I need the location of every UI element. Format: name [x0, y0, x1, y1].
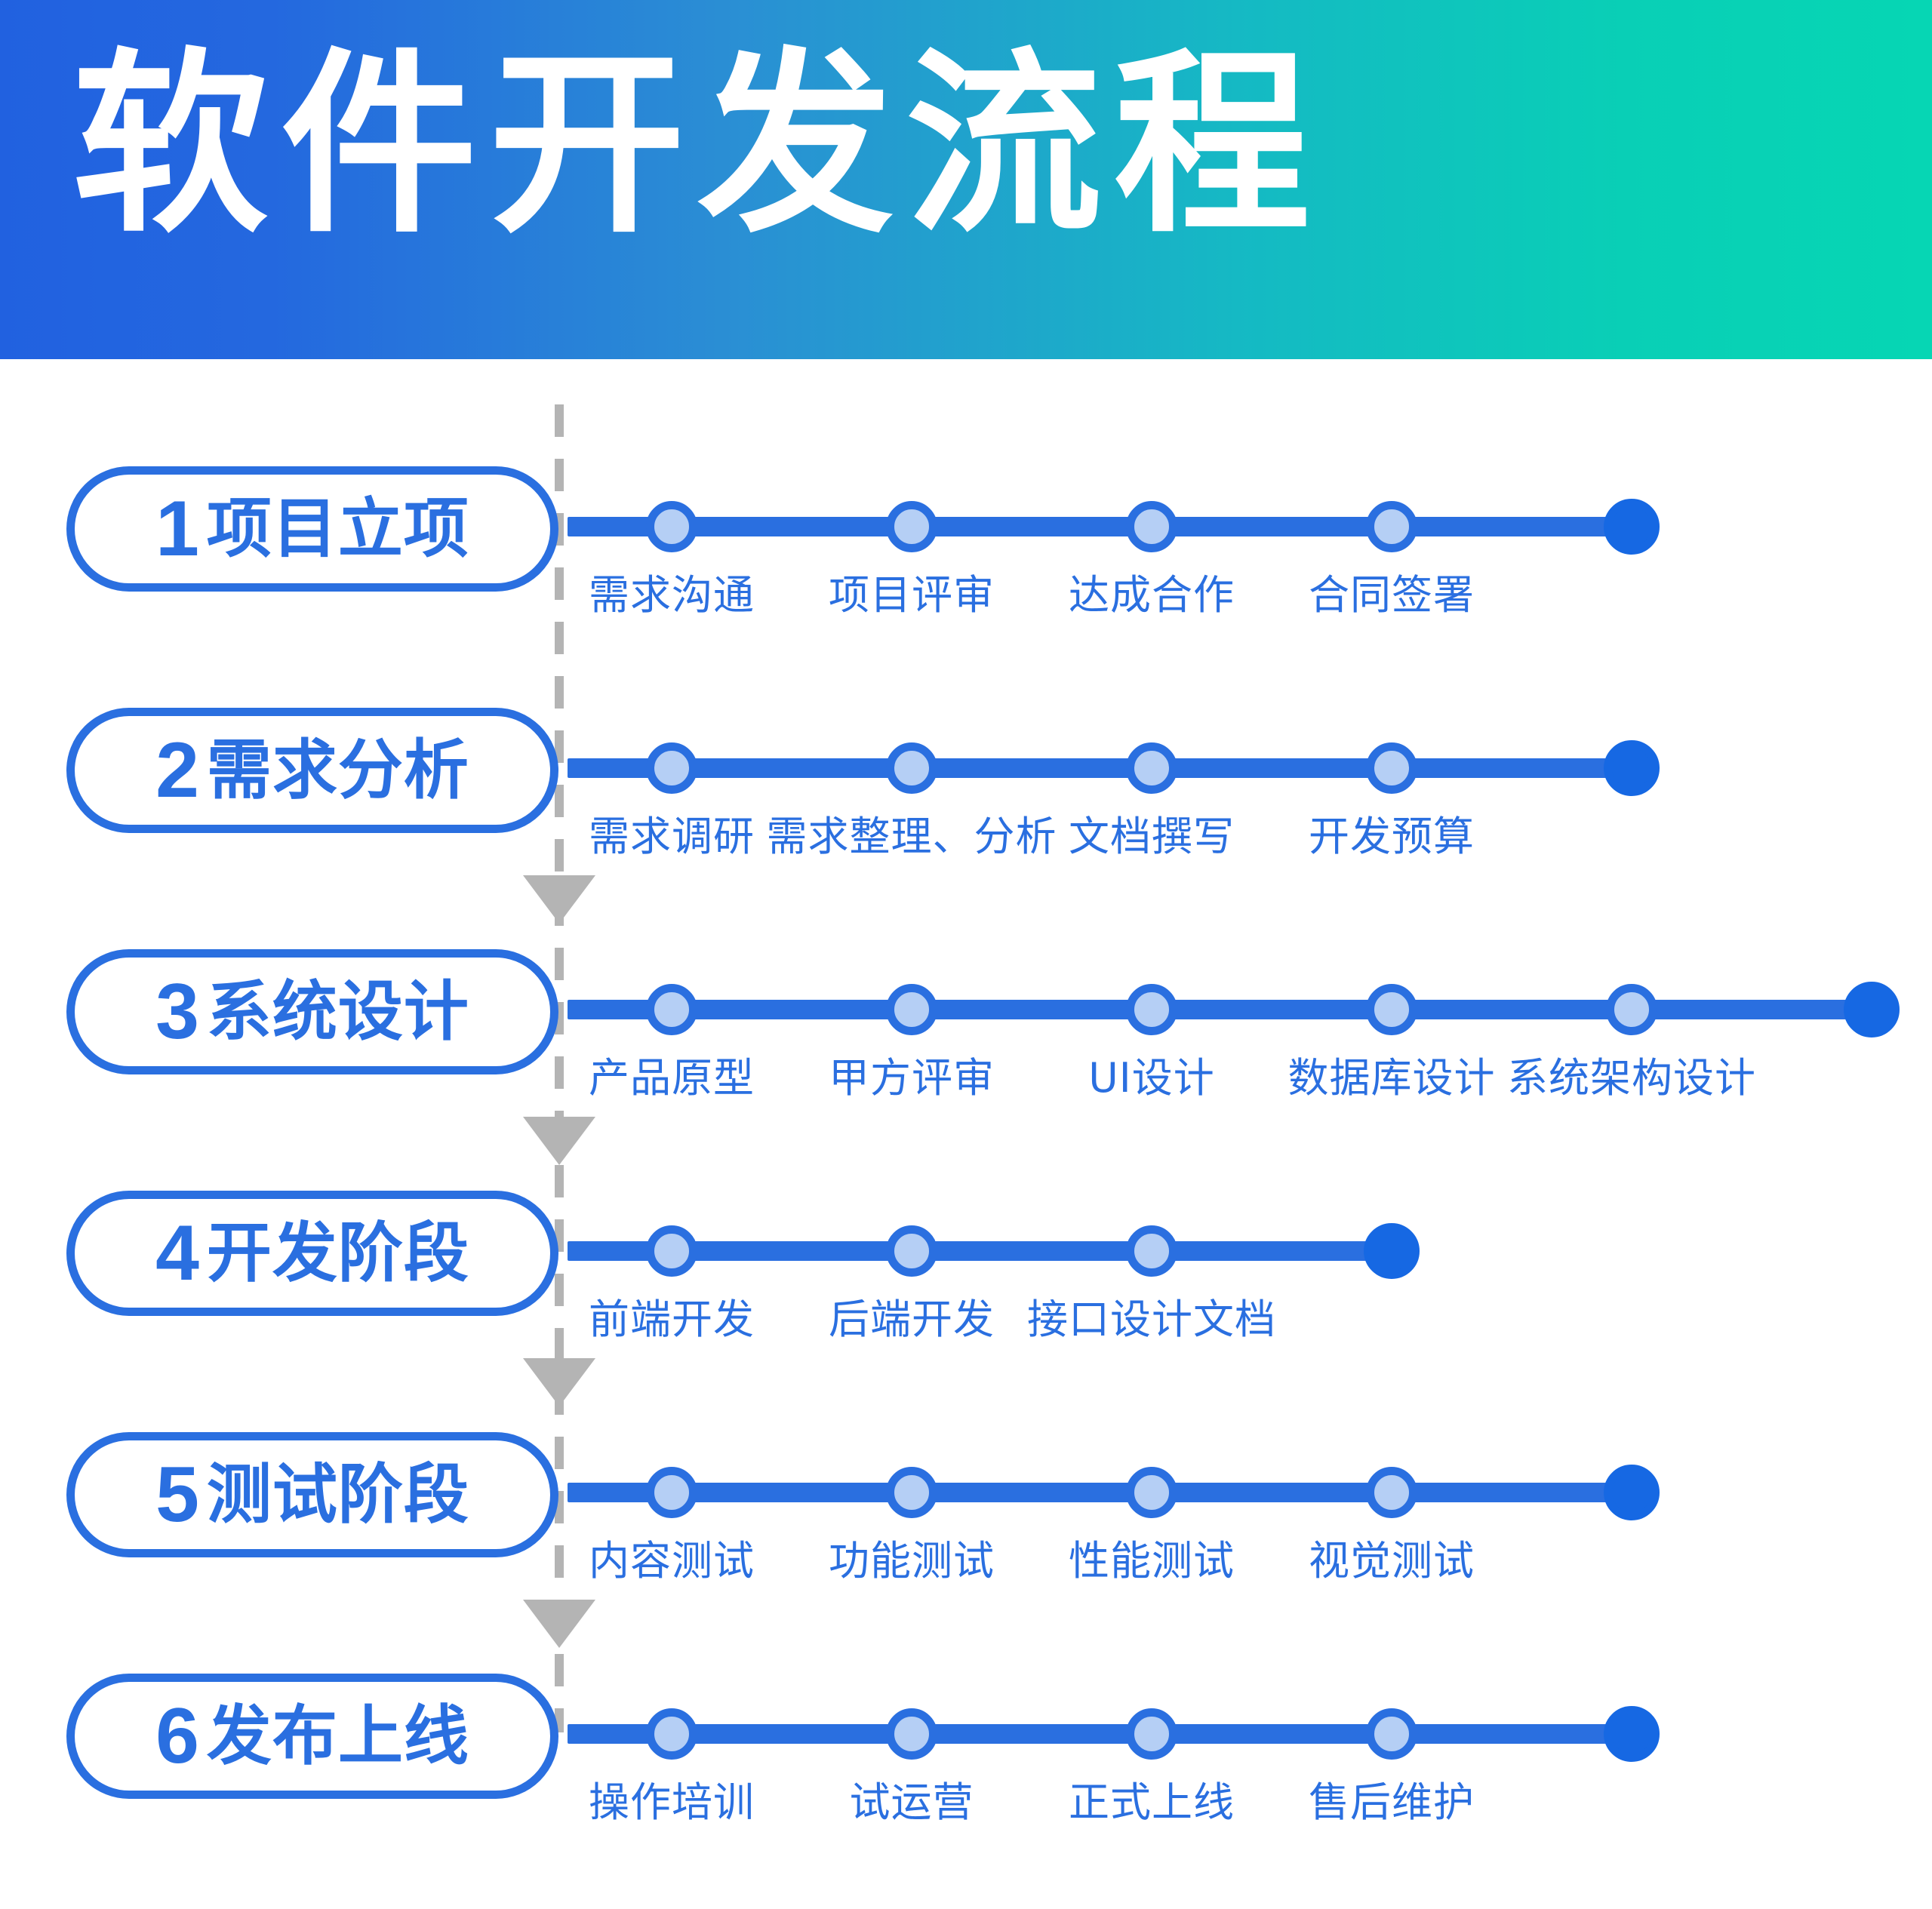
timeline-node-label: 开发预算	[1309, 803, 1475, 862]
timeline-node-label: 后端开发	[829, 1286, 995, 1345]
timeline-node-label: 需求沟通	[589, 561, 755, 621]
page-title: 软件开发流程	[72, 33, 1322, 259]
stage-number: 3	[155, 973, 199, 1051]
stage-pill-3[interactable]: 3系统设计	[66, 949, 558, 1074]
timeline-node-label: 项目评审	[829, 561, 995, 621]
timeline-node-label: 数据库设计	[1288, 1044, 1496, 1104]
timeline-node-label: 系统架构设计	[1507, 1044, 1756, 1104]
timeline-node[interactable]	[1126, 984, 1177, 1035]
timeline-node[interactable]	[646, 984, 697, 1035]
timeline-node-label: 正式上线	[1069, 1769, 1235, 1828]
timeline-track	[568, 517, 1632, 536]
timeline-node-label: 视觉测试	[1309, 1527, 1475, 1587]
timeline-node[interactable]	[1366, 742, 1417, 794]
stage-number: 2	[155, 731, 199, 810]
timeline-node[interactable]	[646, 742, 697, 794]
stage-timeline: 产品原型甲方评审UI设计数据库设计系统架构设计	[568, 933, 1917, 1106]
timeline-node[interactable]	[1126, 1708, 1177, 1760]
timeline-node[interactable]	[1366, 984, 1417, 1035]
stage-number: 4	[155, 1214, 199, 1293]
stage-timeline: 需求沟通项目评审达成合作合同签署	[568, 450, 1677, 623]
timeline-end-node[interactable]	[1364, 1223, 1420, 1279]
timeline-node[interactable]	[1606, 984, 1657, 1035]
timeline-node-label: 甲方评审	[829, 1044, 995, 1104]
timeline-node[interactable]	[646, 1225, 697, 1277]
timeline-node[interactable]	[1126, 1225, 1177, 1277]
timeline-track	[568, 1000, 1872, 1019]
stage-row: 6发布上线操作培训试运营正式上线售后维护	[0, 1657, 1932, 1898]
timeline-node[interactable]	[1126, 742, 1177, 794]
stage-label: 测试阶段	[207, 1462, 469, 1527]
stage-label: 系统设计	[207, 979, 469, 1044]
timeline-end-node[interactable]	[1604, 1465, 1660, 1520]
timeline-node-label: 达成合作	[1069, 561, 1235, 621]
stage-number: 1	[155, 490, 199, 568]
timeline-node[interactable]	[646, 1467, 697, 1518]
timeline-node[interactable]	[886, 742, 937, 794]
timeline-node[interactable]	[886, 501, 937, 552]
stage-pill-6[interactable]: 6发布上线	[66, 1674, 558, 1799]
timeline-node[interactable]	[886, 1708, 937, 1760]
timeline-end-node[interactable]	[1604, 1706, 1660, 1762]
timeline-node-label: 需求整理、分析	[767, 803, 1057, 862]
stage-timeline: 前端开发后端开发接口设计文档	[568, 1174, 1437, 1348]
timeline-track	[568, 1483, 1632, 1502]
timeline-end-node[interactable]	[1604, 740, 1660, 796]
stage-label: 开发阶段	[207, 1221, 469, 1286]
timeline-node[interactable]	[1126, 1467, 1177, 1518]
timeline-node-label: 内容测试	[589, 1527, 755, 1587]
timeline-node[interactable]	[646, 1708, 697, 1760]
flow-diagram: 1项目立项需求沟通项目评审达成合作合同签署2需求分析需求调研需求整理、分析文档撰…	[0, 359, 1932, 1909]
stage-row: 4开发阶段前端开发后端开发接口设计文档	[0, 1174, 1932, 1416]
stage-number: 6	[155, 1697, 199, 1775]
stage-pill-5[interactable]: 5测试阶段	[66, 1432, 558, 1557]
stage-timeline: 内容测试功能测试性能测试视觉测试	[568, 1416, 1677, 1589]
stage-number: 5	[155, 1456, 199, 1534]
timeline-node-label: 性能测试	[1069, 1527, 1235, 1587]
timeline-node[interactable]	[1366, 1708, 1417, 1760]
stage-label: 需求分析	[207, 738, 469, 803]
timeline-node-label: 试运营	[850, 1769, 974, 1828]
timeline-node-label: 接口设计文档	[1027, 1286, 1276, 1345]
stage-row: 3系统设计产品原型甲方评审UI设计数据库设计系统架构设计	[0, 933, 1932, 1174]
timeline-node[interactable]	[886, 984, 937, 1035]
timeline-end-node[interactable]	[1844, 982, 1900, 1037]
timeline-track	[568, 1724, 1632, 1744]
timeline-node-label: 功能测试	[829, 1527, 995, 1587]
stage-pill-2[interactable]: 2需求分析	[66, 708, 558, 833]
header-banner: 软件开发流程	[0, 0, 1932, 359]
stage-row: 5测试阶段内容测试功能测试性能测试视觉测试	[0, 1416, 1932, 1657]
stage-row: 1项目立项需求沟通项目评审达成合作合同签署	[0, 450, 1932, 691]
timeline-node-label: 前端开发	[589, 1286, 755, 1345]
timeline-node-label: 售后维护	[1309, 1769, 1475, 1828]
timeline-node[interactable]	[646, 501, 697, 552]
timeline-node[interactable]	[1366, 1467, 1417, 1518]
timeline-node-label: 文档撰写	[1069, 803, 1235, 862]
stage-pill-4[interactable]: 4开发阶段	[66, 1191, 558, 1316]
timeline-node[interactable]	[1126, 501, 1177, 552]
timeline-node-label: UI设计	[1088, 1044, 1214, 1104]
timeline-node[interactable]	[1366, 501, 1417, 552]
timeline-node-label: 需求调研	[589, 803, 755, 862]
timeline-node-label: 产品原型	[589, 1044, 755, 1104]
timeline-end-node[interactable]	[1604, 499, 1660, 555]
timeline-node[interactable]	[886, 1467, 937, 1518]
stage-row: 2需求分析需求调研需求整理、分析文档撰写开发预算	[0, 691, 1932, 933]
timeline-track	[568, 758, 1632, 778]
stage-label: 项目立项	[207, 496, 469, 561]
stage-pill-1[interactable]: 1项目立项	[66, 466, 558, 592]
timeline-node[interactable]	[886, 1225, 937, 1277]
timeline-node-label: 操作培训	[589, 1769, 755, 1828]
stage-label: 发布上线	[207, 1704, 469, 1769]
stage-timeline: 操作培训试运营正式上线售后维护	[568, 1657, 1677, 1831]
timeline-node-label: 合同签署	[1309, 561, 1475, 621]
stage-timeline: 需求调研需求整理、分析文档撰写开发预算	[568, 691, 1677, 865]
